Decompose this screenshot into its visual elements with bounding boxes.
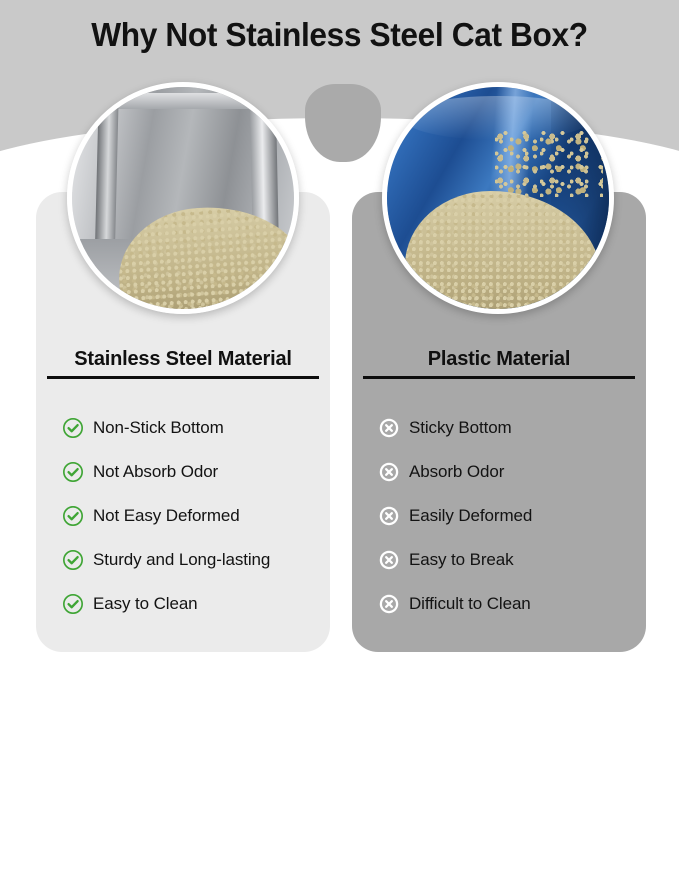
plastic-box-photo (382, 82, 614, 314)
list-item: Absorb Odor (378, 450, 646, 494)
list-item-label: Sturdy and Long-lasting (93, 550, 270, 570)
x-circle-icon (378, 593, 400, 615)
list-item-label: Not Easy Deformed (93, 506, 240, 526)
column-heading-plastic: Plastic Material (352, 348, 646, 371)
list-item: Difficult to Clean (378, 582, 646, 626)
stainless-steel-photo (67, 82, 299, 314)
column-heading-stainless-steel: Stainless Steel Material (36, 348, 330, 371)
list-item-label: Non-Stick Bottom (93, 418, 224, 438)
x-circle-icon (378, 505, 400, 527)
heading-divider-right (363, 376, 635, 379)
list-item-label: Absorb Odor (409, 462, 504, 482)
x-circle-icon (378, 461, 400, 483)
list-item: Easy to Clean (62, 582, 330, 626)
list-item-label: Easily Deformed (409, 506, 532, 526)
list-item: Non-Stick Bottom (62, 406, 330, 450)
heading-divider-left (47, 376, 319, 379)
list-item: Sturdy and Long-lasting (62, 538, 330, 582)
page-title: Why Not Stainless Steel Cat Box? (14, 16, 666, 54)
check-circle-icon (62, 461, 84, 483)
list-item: Easy to Break (378, 538, 646, 582)
check-circle-icon (62, 505, 84, 527)
plastic-box-illustration (387, 87, 609, 309)
steel-pan-illustration (72, 87, 294, 309)
list-item: Easily Deformed (378, 494, 646, 538)
list-item-label: Easy to Clean (93, 594, 198, 614)
list-item-label: Difficult to Clean (409, 594, 531, 614)
check-circle-icon (62, 593, 84, 615)
scattered-litter (495, 131, 603, 197)
list-item: Not Absorb Odor (62, 450, 330, 494)
x-circle-icon (378, 417, 400, 439)
list-item-label: Easy to Break (409, 550, 514, 570)
feature-list-stainless-steel: Non-Stick Bottom Not Absorb Odor Not Eas… (36, 406, 330, 626)
list-item-label: Not Absorb Odor (93, 462, 218, 482)
list-item: Sticky Bottom (378, 406, 646, 450)
check-circle-icon (62, 549, 84, 571)
check-circle-icon (62, 417, 84, 439)
list-item: Not Easy Deformed (62, 494, 330, 538)
feature-list-plastic: Sticky Bottom Absorb Odor Easily Deforme… (352, 406, 646, 626)
list-item-label: Sticky Bottom (409, 418, 512, 438)
x-circle-icon (378, 549, 400, 571)
